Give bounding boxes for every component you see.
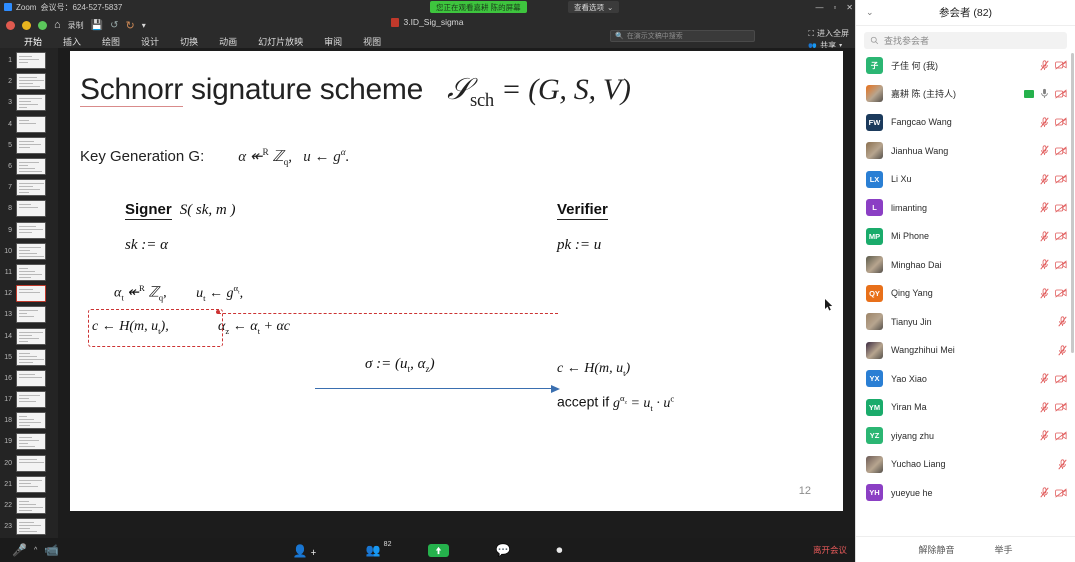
slide-thumbnail-number: 3 bbox=[3, 99, 12, 106]
video-off-icon[interactable] bbox=[1055, 117, 1067, 127]
slide-thumbnail-number: 9 bbox=[3, 227, 12, 234]
slide-thumbnail-preview[interactable] bbox=[16, 518, 46, 535]
participant-status-icons bbox=[1040, 174, 1067, 185]
participant-status-icons bbox=[1024, 88, 1067, 99]
mic-off-icon[interactable] bbox=[1040, 259, 1049, 270]
avatar: YM bbox=[866, 399, 883, 416]
participant-status-icons bbox=[1040, 430, 1067, 441]
participant-name: Wangzhihui Mei bbox=[891, 345, 1050, 355]
powerpoint-chrome: ⌂ 录制 💾 ↺ ↻ ▾ 3.ID_Sig_sigma 开始 插入 绘图 设计 … bbox=[0, 14, 855, 48]
slide-thumbnail-number: 6 bbox=[3, 163, 12, 170]
maximize-icon[interactable]: ▫ bbox=[833, 3, 836, 12]
tab-draw[interactable]: 绘图 bbox=[100, 34, 122, 49]
slide-title-math: 𝒮sch = (G, S, V) bbox=[447, 73, 630, 106]
slide-thumbnail-number: 23 bbox=[3, 523, 12, 530]
participant-name: Minghao Dai bbox=[891, 260, 1032, 270]
participant-status-icons bbox=[1040, 259, 1067, 270]
participant-row[interactable]: QYQing Yang bbox=[856, 279, 1075, 308]
avatar bbox=[866, 142, 883, 159]
share-screen-icon[interactable] bbox=[428, 544, 449, 557]
avatar: LX bbox=[866, 171, 883, 188]
slide-thumbnail-number: 5 bbox=[3, 142, 12, 149]
ribbon-tabs: 开始 插入 绘图 设计 切换 动画 幻灯片放映 审阅 视图 bbox=[22, 34, 383, 49]
participant-row[interactable]: LXLi Xu bbox=[856, 165, 1075, 194]
avatar bbox=[866, 256, 883, 273]
view-options-label: 查看选项 bbox=[574, 2, 604, 13]
slide-thumbnail-number: 21 bbox=[3, 481, 12, 488]
slide-thumbnail-preview[interactable] bbox=[16, 116, 46, 133]
slide-thumbnail-number: 14 bbox=[3, 333, 12, 340]
avatar: YX bbox=[866, 370, 883, 387]
zoom-logo-icon bbox=[4, 3, 12, 11]
tab-slideshow[interactable]: 幻灯片放映 bbox=[256, 34, 305, 49]
participant-row[interactable]: MPMi Phone bbox=[856, 222, 1075, 251]
participant-name: limanting bbox=[891, 203, 1032, 213]
slide-thumbnail-row[interactable]: 19 bbox=[0, 431, 58, 452]
signer-header: Signer bbox=[125, 201, 172, 220]
verifier-pk: pk := u bbox=[557, 237, 608, 254]
slide-thumbnail-preview[interactable] bbox=[16, 137, 46, 154]
participants-panel-title: 参会者 (82) bbox=[856, 5, 1075, 20]
fullscreen-icon: ⛶ bbox=[808, 29, 814, 39]
slide-thumbnail-row[interactable]: 1 bbox=[0, 50, 58, 71]
slide-thumbnail-number: 13 bbox=[3, 311, 12, 318]
participants-panel-footer: 解除静音 举手 bbox=[856, 536, 1075, 562]
close-icon[interactable]: ✕ bbox=[846, 3, 853, 12]
tab-review[interactable]: 审阅 bbox=[322, 34, 344, 49]
participant-name: Yao Xiao bbox=[891, 374, 1032, 384]
search-icon: 🔍 bbox=[615, 32, 624, 40]
participants-panel-header: ⌄ 参会者 (82) bbox=[856, 0, 1075, 26]
slide-thumbnail-row[interactable]: 6 bbox=[0, 156, 58, 177]
chat-icon[interactable]: 💬 bbox=[495, 543, 510, 557]
participant-row[interactable]: YZyiyang zhu bbox=[856, 422, 1075, 451]
slide-thumbnail-row[interactable]: 8 bbox=[0, 198, 58, 219]
slide-thumbnail-number: 1 bbox=[3, 57, 12, 64]
slide-thumbnail-row[interactable]: 5 bbox=[0, 135, 58, 156]
slide-thumbnail-number: 20 bbox=[3, 460, 12, 467]
slide-thumbnail-number: 2 bbox=[3, 78, 12, 85]
slide-thumbnail-preview[interactable] bbox=[16, 264, 46, 281]
slide-thumbnail-preview[interactable] bbox=[16, 285, 46, 302]
participant-status-icons bbox=[1058, 459, 1067, 470]
slide-thumbnail-number: 4 bbox=[3, 121, 12, 128]
slide-thumbnail-row[interactable]: 12 bbox=[0, 283, 58, 304]
participant-row[interactable]: Llimanting bbox=[856, 194, 1075, 223]
mic-off-icon[interactable] bbox=[1058, 459, 1067, 470]
participant-status-icons bbox=[1040, 373, 1067, 384]
verifier-header: Verifier bbox=[557, 201, 608, 220]
participant-list[interactable]: 子子佳 何 (我)嘉耕 陈 (主持人)FWFangcao WangJianhua… bbox=[856, 51, 1075, 536]
mic-off-icon[interactable] bbox=[1040, 288, 1049, 299]
line-alpha-z: αz ← αt + αc bbox=[218, 319, 290, 336]
zoom-bottom-toolbar: 🎤 ^ 📹 👤﹢ 👥82 💬 ⏺ 离开会议 bbox=[0, 538, 855, 562]
slide-thumbnail-number: 22 bbox=[3, 502, 12, 509]
slide-thumbnail-number: 8 bbox=[3, 205, 12, 212]
key-generation-line: Key Generation G: α ↞R ℤq, u ← gα. bbox=[80, 147, 349, 168]
slide-thumbnail-preview[interactable] bbox=[16, 179, 46, 196]
slide-thumbnail-row[interactable]: 3 bbox=[0, 92, 58, 113]
line-verifier-challenge: c ← H(m, ut) bbox=[557, 361, 630, 378]
video-off-icon[interactable] bbox=[1055, 89, 1067, 99]
enter-fullscreen-label: 进入全屏 bbox=[817, 28, 849, 39]
video-off-icon[interactable] bbox=[1055, 60, 1067, 70]
slide-thumbnail-number: 7 bbox=[3, 184, 12, 191]
participant-row[interactable]: FWFangcao Wang bbox=[856, 108, 1075, 137]
participant-name: Jianhua Wang bbox=[891, 146, 1032, 156]
slide-thumbnail-preview[interactable] bbox=[16, 349, 46, 366]
slide-thumbnail-row[interactable]: 17 bbox=[0, 389, 58, 410]
participant-status-icons bbox=[1040, 202, 1067, 213]
participant-status-icons bbox=[1040, 231, 1067, 242]
slide-title: Schnorr signature scheme 𝒮sch = (G, S, V… bbox=[80, 73, 631, 112]
slide-thumbnail-preview[interactable] bbox=[16, 412, 46, 429]
slide-canvas: Schnorr signature scheme 𝒮sch = (G, S, V… bbox=[70, 51, 843, 511]
minimize-icon[interactable]: — bbox=[815, 3, 823, 12]
slide-thumbnail-preview[interactable] bbox=[16, 306, 46, 323]
slide-thumbnail-number: 12 bbox=[3, 290, 12, 297]
mic-off-icon[interactable] bbox=[1058, 345, 1067, 356]
participants-button[interactable]: 👥82 bbox=[366, 543, 383, 557]
slide-thumbnail-number: 19 bbox=[3, 438, 12, 445]
video-off-icon[interactable] bbox=[1055, 402, 1067, 412]
slide-thumbnail-preview[interactable] bbox=[16, 73, 46, 90]
slide-thumbnail-number: 11 bbox=[3, 269, 12, 276]
avatar bbox=[866, 342, 883, 359]
slide-thumbnail-number: 16 bbox=[3, 375, 12, 382]
chevron-down-icon: ⌄ bbox=[607, 3, 613, 12]
video-off-icon[interactable] bbox=[1055, 374, 1067, 384]
signer-column: Signer S( sk, m ) sk := α bbox=[125, 201, 236, 254]
leave-meeting-button[interactable]: 离开会议 bbox=[813, 544, 847, 556]
slide-thumbnail-preview[interactable] bbox=[16, 328, 46, 345]
slide-thumbnail-row[interactable]: 15 bbox=[0, 347, 58, 368]
zoom-meeting-window: Zoom 会议号：624-527-5837 您正在观看嘉耕 陈的屏幕 查看选项 … bbox=[0, 0, 1075, 562]
document-title: 3.ID_Sig_sigma bbox=[403, 17, 463, 27]
mic-off-icon[interactable] bbox=[1040, 202, 1049, 213]
avatar bbox=[866, 85, 883, 102]
zoom-titlebar: Zoom 会议号：624-527-5837 您正在观看嘉耕 陈的屏幕 查看选项 … bbox=[0, 0, 855, 14]
record-icon[interactable]: ⏺ bbox=[556, 543, 562, 558]
slide-thumbnail-preview[interactable] bbox=[16, 370, 46, 387]
participants-count-badge: 82 bbox=[384, 541, 392, 548]
slide-thumbnail-row[interactable]: 4 bbox=[0, 114, 58, 135]
slide-thumbnail-preview[interactable] bbox=[16, 243, 46, 260]
highlight-dot bbox=[216, 310, 220, 314]
view-options-button[interactable]: 查看选项 ⌄ bbox=[568, 1, 619, 13]
key-generation-math: α ↞R ℤq, u ← gα. bbox=[238, 147, 349, 168]
participant-name: Li Xu bbox=[891, 174, 1032, 184]
slide-thumbnail-preview[interactable] bbox=[16, 455, 46, 472]
participant-status-icons bbox=[1040, 117, 1067, 128]
participant-name: yiyang zhu bbox=[891, 431, 1032, 441]
ppt-search-input[interactable]: 🔍 在演示文稿中搜索 bbox=[610, 30, 755, 42]
slide-thumbnail-row[interactable]: 23 bbox=[0, 516, 58, 537]
video-off-icon[interactable] bbox=[1055, 431, 1067, 441]
avatar: YZ bbox=[866, 427, 883, 444]
slide-thumbnail-preview[interactable] bbox=[16, 497, 46, 514]
slide-thumbnail-row[interactable]: 10 bbox=[0, 241, 58, 262]
participant-name: Yuchao Liang bbox=[891, 459, 1050, 469]
video-off-icon[interactable] bbox=[1055, 231, 1067, 241]
avatar bbox=[866, 456, 883, 473]
shared-screen-region: Zoom 会议号：624-527-5837 您正在观看嘉耕 陈的屏幕 查看选项 … bbox=[0, 0, 855, 562]
search-icon bbox=[870, 36, 879, 45]
tab-transitions[interactable]: 切换 bbox=[178, 34, 200, 49]
participant-row[interactable]: Wangzhihui Mei bbox=[856, 336, 1075, 365]
mic-off-icon[interactable] bbox=[1058, 316, 1067, 327]
participant-list-scrollbar[interactable] bbox=[1071, 53, 1074, 353]
slide-thumbnail-row[interactable]: 13 bbox=[0, 304, 58, 325]
avatar: L bbox=[866, 199, 883, 216]
raise-hand-button[interactable]: 举手 bbox=[995, 543, 1013, 556]
tab-design[interactable]: 设计 bbox=[139, 34, 161, 49]
video-off-icon[interactable] bbox=[1055, 174, 1067, 184]
participant-name: Tianyu Jin bbox=[891, 317, 1050, 327]
participant-search-placeholder: 查找参会者 bbox=[884, 34, 929, 47]
highlight-line bbox=[218, 313, 558, 314]
participant-status-icons bbox=[1040, 487, 1067, 498]
panel-collapse-chevron-icon[interactable]: ⌄ bbox=[866, 7, 874, 18]
line-accept-condition: accept if gαz = ut · uc bbox=[557, 393, 674, 412]
mic-off-icon[interactable] bbox=[1040, 402, 1049, 413]
screen-share-banner: 您正在观看嘉耕 陈的屏幕 bbox=[430, 1, 527, 13]
participant-name: Mi Phone bbox=[891, 231, 1032, 241]
slide-thumbnail-preview[interactable] bbox=[16, 158, 46, 175]
participants-panel: ⌄ 参会者 (82) 查找参会者 子子佳 何 (我)嘉耕 陈 (主持人)FWFa… bbox=[855, 0, 1075, 562]
video-off-icon[interactable] bbox=[1055, 288, 1067, 298]
meeting-id-label: 会议号：624-527-5837 bbox=[40, 2, 122, 13]
slide-thumbnail-row[interactable]: 11 bbox=[0, 262, 58, 283]
participant-row[interactable]: YHyueyue he bbox=[856, 479, 1075, 508]
slide-thumbnail-preview[interactable] bbox=[16, 433, 46, 450]
mic-off-icon[interactable] bbox=[1040, 373, 1049, 384]
key-generation-label: Key Generation G: bbox=[80, 148, 204, 165]
participant-row[interactable]: Yuchao Liang bbox=[856, 450, 1075, 479]
slide-thumbnail-row[interactable]: 14 bbox=[0, 325, 58, 346]
slide-thumbnail-row[interactable]: 7 bbox=[0, 177, 58, 198]
video-off-icon[interactable] bbox=[1055, 146, 1067, 156]
slide-title-underlined-word: Schnorr bbox=[80, 73, 183, 107]
slide-thumbnail-row[interactable]: 16 bbox=[0, 368, 58, 389]
slide-number: 12 bbox=[799, 485, 811, 497]
participant-name: Yiran Ma bbox=[891, 402, 1032, 412]
participant-status-icons bbox=[1058, 345, 1067, 356]
slide-thumbnail-preview[interactable] bbox=[16, 200, 46, 217]
tab-start[interactable]: 开始 bbox=[22, 34, 44, 49]
slide-thumbnail-preview[interactable] bbox=[16, 222, 46, 239]
participant-row[interactable]: 子子佳 何 (我) bbox=[856, 51, 1075, 80]
powerpoint-file-icon bbox=[391, 18, 399, 27]
slide-thumbnail-number: 15 bbox=[3, 354, 12, 361]
participant-search-input[interactable]: 查找参会者 bbox=[864, 32, 1067, 49]
slide-thumbnail-number: 10 bbox=[3, 248, 12, 255]
signature-transfer-arrow bbox=[315, 384, 560, 393]
highlight-box bbox=[88, 309, 223, 347]
participant-name: 嘉耕 陈 (主持人) bbox=[891, 87, 1016, 100]
enter-fullscreen-button[interactable]: ⛶ 进入全屏 bbox=[808, 28, 849, 39]
participant-name: Fangcao Wang bbox=[891, 117, 1032, 127]
zoom-app-label: Zoom bbox=[16, 3, 36, 12]
mic-off-icon[interactable] bbox=[1040, 487, 1049, 498]
mic-off-icon[interactable] bbox=[1040, 174, 1049, 185]
participant-row[interactable]: 嘉耕 陈 (主持人) bbox=[856, 80, 1075, 109]
verifier-column: Verifier pk := u bbox=[557, 201, 608, 254]
participant-row[interactable]: Tianyu Jin bbox=[856, 308, 1075, 337]
participant-row[interactable]: Jianhua Wang bbox=[856, 137, 1075, 166]
participant-name: 子佳 何 (我) bbox=[891, 59, 1032, 72]
participant-status-icons bbox=[1040, 402, 1067, 413]
slide-thumbnail-row[interactable]: 9 bbox=[0, 220, 58, 241]
slide-thumbnail-row[interactable]: 18 bbox=[0, 410, 58, 431]
tab-animations[interactable]: 动画 bbox=[217, 34, 239, 49]
mic-off-icon[interactable] bbox=[1040, 145, 1049, 156]
slide-thumbnail-number: 17 bbox=[3, 396, 12, 403]
slide-thumbnail-row[interactable]: 20 bbox=[0, 453, 58, 474]
slide-thumbnail-row[interactable]: 2 bbox=[0, 71, 58, 92]
participant-status-icons bbox=[1040, 145, 1067, 156]
invite-icon[interactable]: 👤﹢ bbox=[293, 542, 320, 559]
host-screen-share-badge-icon bbox=[1024, 90, 1034, 98]
slide-thumbnail-preview[interactable] bbox=[16, 391, 46, 408]
slide-thumbnail-panel[interactable]: 1234567891011121314151617181920212223 bbox=[0, 48, 58, 538]
participant-name: yueyue he bbox=[891, 488, 1032, 498]
participant-status-icons bbox=[1058, 316, 1067, 327]
participant-name: Qing Yang bbox=[891, 288, 1032, 298]
slide-thumbnail-row[interactable]: 22 bbox=[0, 495, 58, 516]
slide-thumbnail-row[interactable]: 21 bbox=[0, 474, 58, 495]
slide-thumbnail-preview[interactable] bbox=[16, 476, 46, 493]
unmute-button[interactable]: 解除静音 bbox=[918, 543, 954, 556]
avatar: QY bbox=[866, 285, 883, 302]
signer-sk: sk := α bbox=[125, 237, 236, 254]
slide-thumbnail-number: 18 bbox=[3, 417, 12, 424]
mic-off-icon[interactable] bbox=[1040, 60, 1049, 71]
screen-share-banner-text: 您正在观看嘉耕 陈的屏幕 bbox=[436, 2, 521, 13]
powerpoint-body: 1234567891011121314151617181920212223 Sc… bbox=[0, 48, 855, 538]
video-off-icon[interactable] bbox=[1055, 260, 1067, 270]
video-off-icon[interactable] bbox=[1055, 488, 1067, 498]
participant-row[interactable]: YMYiran Ma bbox=[856, 393, 1075, 422]
slide-stage: Schnorr signature scheme 𝒮sch = (G, S, V… bbox=[58, 48, 855, 538]
line-signature: σ := (ut, αz) bbox=[365, 356, 435, 375]
line-alpha-t: αt ↞R ℤq, ut ← gαt, bbox=[114, 283, 243, 302]
window-controls: — ▫ ✕ bbox=[815, 0, 853, 14]
document-title-bar: 3.ID_Sig_sigma bbox=[0, 17, 855, 27]
signer-function: S( sk, m ) bbox=[180, 202, 236, 219]
participant-row[interactable]: Minghao Dai bbox=[856, 251, 1075, 280]
mic-off-icon[interactable] bbox=[1040, 231, 1049, 242]
participant-status-icons bbox=[1040, 288, 1067, 299]
avatar: YH bbox=[866, 484, 883, 501]
slide-thumbnail-preview[interactable] bbox=[16, 52, 46, 69]
tab-insert[interactable]: 插入 bbox=[61, 34, 83, 49]
mic-off-icon[interactable] bbox=[1040, 430, 1049, 441]
mic-off-icon[interactable] bbox=[1040, 117, 1049, 128]
avatar: FW bbox=[866, 114, 883, 131]
participant-status-icons bbox=[1040, 60, 1067, 71]
mouse-cursor-icon bbox=[825, 299, 833, 311]
ppt-search-placeholder: 在演示文稿中搜索 bbox=[627, 31, 683, 41]
tab-view[interactable]: 视图 bbox=[361, 34, 383, 49]
avatar: MP bbox=[866, 228, 883, 245]
avatar: 子 bbox=[866, 57, 883, 74]
video-off-icon[interactable] bbox=[1055, 203, 1067, 213]
slide-thumbnail-preview[interactable] bbox=[16, 94, 46, 111]
avatar bbox=[866, 313, 883, 330]
mic-on-icon[interactable] bbox=[1040, 88, 1049, 99]
participant-row[interactable]: YXYao Xiao bbox=[856, 365, 1075, 394]
